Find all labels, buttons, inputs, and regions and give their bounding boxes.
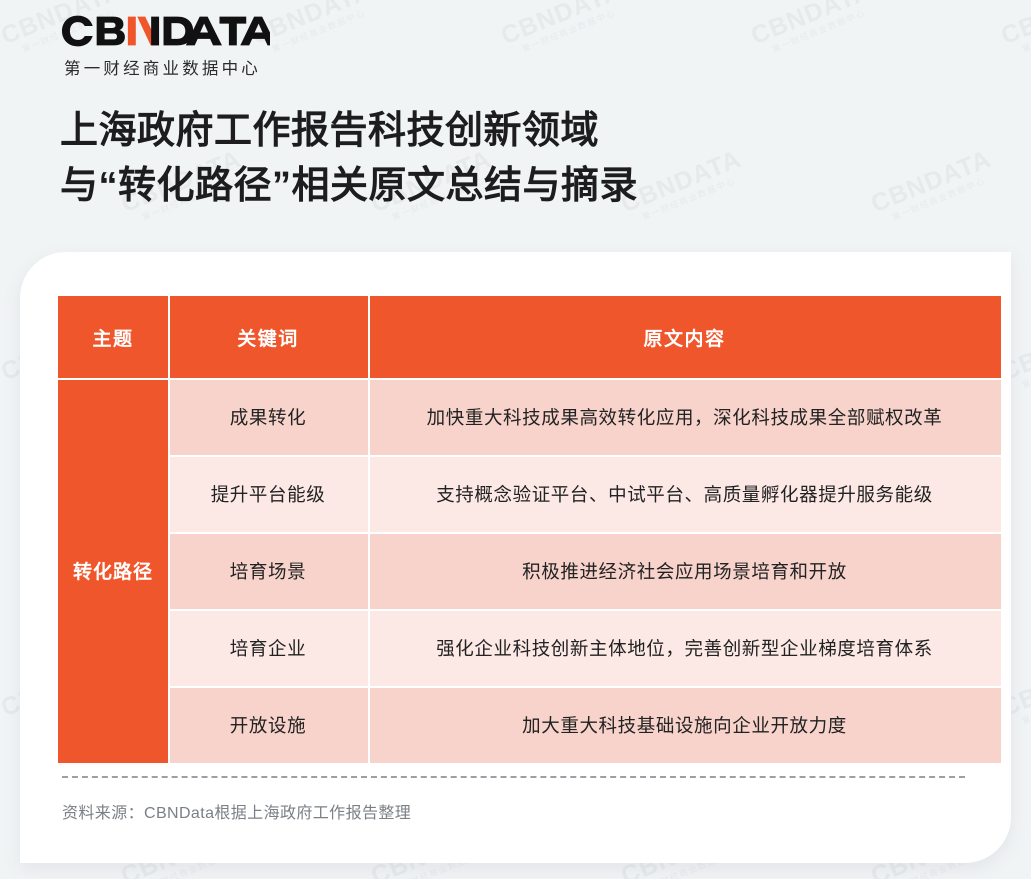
content-cell: 加快重大科技成果高效转化应用，深化科技成果全部赋权改革 xyxy=(368,378,1001,455)
table-header: 主题 关键词 原文内容 xyxy=(58,296,1001,378)
keyword-cell: 成果转化 xyxy=(168,378,368,455)
watermark-text: CBNDATA第一财经商业数据中心 xyxy=(867,146,999,229)
keyword-cell: 提升平台能级 xyxy=(168,455,368,532)
content-cell: 强化企业科技创新主体地位，完善创新型企业梯度培育体系 xyxy=(368,609,1001,686)
keyword-cell: 培育企业 xyxy=(168,609,368,686)
cbndata-logo-icon xyxy=(62,14,270,48)
page-title-line-2: 与“转化路径”相关原文总结与摘录 xyxy=(60,159,638,214)
content-card: 主题 关键词 原文内容 转化路径 成果转化 加快重大科技成果高效转化应用，深化科… xyxy=(20,252,1011,863)
content-cell: 加大重大科技基础设施向企业开放力度 xyxy=(368,686,1001,763)
watermark-text: CBNDATA第一财经商业数据中心 xyxy=(747,0,879,61)
content-cell: 支持概念验证平台、中试平台、高质量孵化器提升服务能级 xyxy=(368,455,1001,532)
theme-group-cell: 转化路径 xyxy=(58,378,168,763)
column-header-content: 原文内容 xyxy=(368,296,1001,378)
page-title-line-1: 上海政府工作报告科技创新领域 xyxy=(60,104,638,159)
column-header-keyword: 关键词 xyxy=(168,296,368,378)
column-header-theme: 主题 xyxy=(58,296,168,378)
table-row: 开放设施 加大重大科技基础设施向企业开放力度 xyxy=(58,686,1001,763)
source-note: 资料来源：CBNData根据上海政府工作报告整理 xyxy=(62,799,411,823)
watermark-text: CBNDATA第一财经商业数据中心 xyxy=(497,0,629,61)
keyword-cell: 培育场景 xyxy=(168,532,368,609)
keyword-cell: 开放设施 xyxy=(168,686,368,763)
table-header-row: 主题 关键词 原文内容 xyxy=(58,296,1001,378)
table-body: 转化路径 成果转化 加快重大科技成果高效转化应用，深化科技成果全部赋权改革 提升… xyxy=(58,378,1001,763)
page-title: 上海政府工作报告科技创新领域 与“转化路径”相关原文总结与摘录 xyxy=(60,104,638,214)
summary-table: 主题 关键词 原文内容 转化路径 成果转化 加快重大科技成果高效转化应用，深化科… xyxy=(58,296,1001,763)
watermark-text: CBNDATA第一财经商业数据中心 xyxy=(997,0,1031,61)
brand-subtitle: 第一财经商业数据中心 xyxy=(64,55,270,79)
brand-logo: 第一财经商业数据中心 xyxy=(62,14,270,79)
table-row: 提升平台能级 支持概念验证平台、中试平台、高质量孵化器提升服务能级 xyxy=(58,455,1001,532)
footer-divider xyxy=(62,776,965,778)
table-row: 转化路径 成果转化 加快重大科技成果高效转化应用，深化科技成果全部赋权改革 xyxy=(58,378,1001,455)
table-row: 培育场景 积极推进经济社会应用场景培育和开放 xyxy=(58,532,1001,609)
content-cell: 积极推进经济社会应用场景培育和开放 xyxy=(368,532,1001,609)
table-row: 培育企业 强化企业科技创新主体地位，完善创新型企业梯度培育体系 xyxy=(58,609,1001,686)
